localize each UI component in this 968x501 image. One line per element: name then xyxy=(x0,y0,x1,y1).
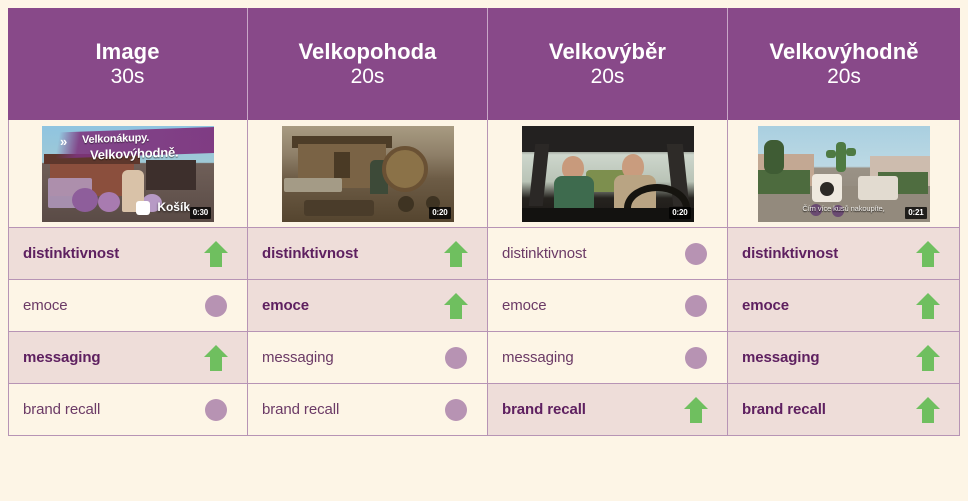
column-title: Velkopohoda xyxy=(298,39,436,65)
metric-label: distinktivnost xyxy=(502,245,586,262)
chevron-right-icon: » xyxy=(60,134,67,149)
metric-row[interactable]: messaging xyxy=(488,332,728,384)
metric-row[interactable]: emoce xyxy=(248,280,488,332)
circle-dot-icon xyxy=(442,395,470,425)
metric-label: distinktivnost xyxy=(23,245,119,262)
metric-label: brand recall xyxy=(742,401,826,418)
metric-row[interactable]: distinktivnost xyxy=(488,228,728,280)
thumbnail-subtitle: Čím více kusů nakoupíte, xyxy=(758,204,930,213)
metric-label: brand recall xyxy=(23,401,100,418)
thumbnail-cell-2: 0:20 xyxy=(248,120,488,228)
metric-label: emoce xyxy=(742,297,789,314)
campaign-column-4: Velkovýhodně 20s xyxy=(728,8,960,436)
thumbnail-cell-1: » Velkonákupy. Velkovýhodně. Košík 0:30 xyxy=(8,120,248,228)
metric-label: emoce xyxy=(262,297,309,314)
thumbnail-cell-3: 0:20 xyxy=(488,120,728,228)
metric-row[interactable]: emoce xyxy=(488,280,728,332)
kosik-logo-icon xyxy=(136,201,150,215)
metric-label: brand recall xyxy=(502,401,586,418)
metric-label: emoce xyxy=(23,297,68,314)
arrow-up-icon xyxy=(682,395,710,425)
thumbnail-headline-line2: Velkovýhodně. xyxy=(90,144,178,162)
metric-row[interactable]: messaging xyxy=(8,332,248,384)
circle-dot-icon xyxy=(682,239,710,269)
video-thumbnail[interactable]: 0:20 xyxy=(522,126,694,222)
column-header-4: Velkovýhodně 20s xyxy=(728,8,960,120)
video-thumbnail[interactable]: 0:20 xyxy=(282,126,454,222)
column-header-2: Velkopohoda 20s xyxy=(248,8,488,120)
duration-badge: 0:30 xyxy=(190,207,211,219)
metric-row[interactable]: brand recall xyxy=(728,384,960,436)
duration-badge: 0:20 xyxy=(669,207,690,219)
video-thumbnail[interactable]: Čím více kusů nakoupíte, 0:21 xyxy=(758,126,930,222)
thumbnail-cell-4: Čím více kusů nakoupíte, 0:21 xyxy=(728,120,960,228)
arrow-up-icon xyxy=(442,239,470,269)
metric-label: messaging xyxy=(262,349,334,366)
circle-dot-icon xyxy=(682,291,710,321)
metric-row[interactable]: emoce xyxy=(728,280,960,332)
metric-label: emoce xyxy=(502,297,547,314)
arrow-up-icon xyxy=(442,291,470,321)
column-title: Image xyxy=(95,39,159,65)
metric-row[interactable]: brand recall xyxy=(488,384,728,436)
duration-badge: 0:21 xyxy=(905,207,926,219)
metric-row[interactable]: distinktivnost xyxy=(248,228,488,280)
column-duration: 20s xyxy=(591,65,625,90)
metric-label: distinktivnost xyxy=(742,245,838,262)
arrow-up-icon xyxy=(914,343,942,373)
metric-row[interactable]: brand recall xyxy=(248,384,488,436)
metric-label: messaging xyxy=(742,349,819,366)
metric-row[interactable]: distinktivnost xyxy=(8,228,248,280)
arrow-up-icon xyxy=(202,343,230,373)
column-title: Velkovýběr xyxy=(549,39,666,65)
circle-dot-icon xyxy=(442,343,470,373)
column-duration: 20s xyxy=(827,65,861,90)
arrow-up-icon xyxy=(202,239,230,269)
campaign-column-2: Velkopohoda 20s 0:20 distin xyxy=(248,8,488,436)
thumbnail-brand: Košík xyxy=(157,200,190,214)
column-header-1: Image 30s xyxy=(8,8,248,120)
metric-row[interactable]: distinktivnost xyxy=(728,228,960,280)
thumbnail-headline-line1: Velkonákupy. xyxy=(82,131,149,145)
circle-dot-icon xyxy=(202,395,230,425)
circle-dot-icon xyxy=(202,291,230,321)
column-header-3: Velkovýběr 20s xyxy=(488,8,728,120)
metric-label: distinktivnost xyxy=(262,245,358,262)
metric-label: brand recall xyxy=(262,401,339,418)
campaign-comparison-grid: Image 30s » Velkonákupy. Velkovýhodně. xyxy=(8,8,960,436)
metric-row[interactable]: messaging xyxy=(728,332,960,384)
column-duration: 30s xyxy=(111,65,145,90)
campaign-column-1: Image 30s » Velkonákupy. Velkovýhodně. xyxy=(8,8,248,436)
arrow-up-icon xyxy=(914,239,942,269)
metric-label: messaging xyxy=(502,349,574,366)
column-duration: 20s xyxy=(351,65,385,90)
arrow-up-icon xyxy=(914,291,942,321)
metric-label: messaging xyxy=(23,349,100,366)
arrow-up-icon xyxy=(914,395,942,425)
campaign-column-3: Velkovýběr 20s 0:20 xyxy=(488,8,728,436)
metric-row[interactable]: emoce xyxy=(8,280,248,332)
metric-row[interactable]: brand recall xyxy=(8,384,248,436)
comparison-board: Image 30s » Velkonákupy. Velkovýhodně. xyxy=(0,0,968,501)
duration-badge: 0:20 xyxy=(429,207,450,219)
metric-row[interactable]: messaging xyxy=(248,332,488,384)
video-thumbnail[interactable]: » Velkonákupy. Velkovýhodně. Košík 0:30 xyxy=(42,126,214,222)
circle-dot-icon xyxy=(682,343,710,373)
column-title: Velkovýhodně xyxy=(769,39,918,65)
